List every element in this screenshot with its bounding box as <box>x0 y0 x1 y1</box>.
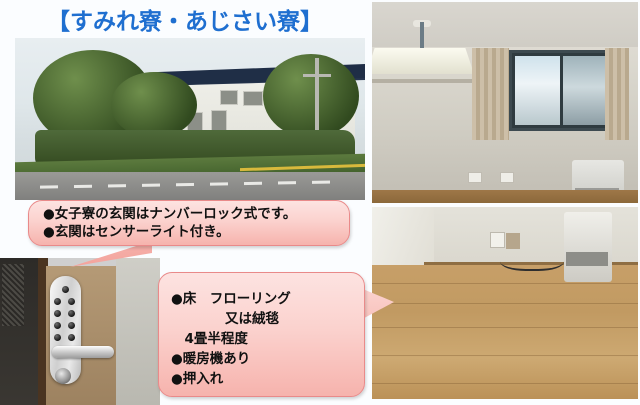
wall-outlet <box>500 172 514 183</box>
photo-room-with-window <box>372 2 638 203</box>
room-callout-line-2: 又は絨毯 <box>171 309 279 329</box>
entrance-callout: ●女子寮の玄関はナンバーロック式です。 ●玄関はセンサーライト付き。 <box>28 200 350 246</box>
heater-vent <box>566 252 608 266</box>
power-cord <box>500 247 564 271</box>
curtain-left <box>472 48 509 140</box>
lock-button <box>68 334 75 341</box>
window <box>220 90 238 105</box>
floor-plank-line <box>372 303 638 304</box>
ceiling-light-rod <box>420 22 424 52</box>
window <box>211 110 227 132</box>
lock-button <box>54 298 61 305</box>
slide-canvas: 【すみれ寮・あじさい寮】 <box>0 0 640 405</box>
curtain-right <box>605 48 629 140</box>
heater <box>564 212 612 282</box>
door-lever-handle <box>52 346 114 358</box>
lock-button <box>62 286 69 293</box>
window-frame <box>509 50 615 131</box>
wall-rail <box>372 79 480 83</box>
entrance-callout-line-2: ●玄関はセンサーライト付き。 <box>43 223 230 241</box>
floor-plank-line <box>372 283 638 284</box>
room-callout-line-3: 4畳半程度 <box>171 329 248 349</box>
room-callout-line-1: ●床 フローリング <box>171 289 291 309</box>
entrance-callout-line-1: ●女子寮の玄関はナンバーロック式です。 <box>43 205 296 223</box>
wall-outlet <box>468 172 482 183</box>
floor-plank-line <box>372 355 638 356</box>
screen-mesh <box>2 264 24 326</box>
lock-button <box>68 298 75 305</box>
photo-door-number-lock <box>0 258 160 405</box>
room-callout-line-5: ●押入れ <box>171 369 223 389</box>
wall-outlet <box>490 232 505 248</box>
tree <box>111 72 197 138</box>
floor-plank-line <box>372 327 638 328</box>
photo-exterior-building <box>15 38 365 200</box>
window-pane-left <box>515 56 560 125</box>
window-pane-right <box>563 56 609 125</box>
lock-button <box>54 334 61 341</box>
wood-floor <box>372 265 638 399</box>
lock-button <box>68 310 75 317</box>
room-callout-line-4: ●暖房機あり <box>171 349 250 369</box>
exterior-wall <box>116 258 160 405</box>
page-title: 【すみれ寮・あじさい寮】 <box>0 2 370 36</box>
floor-edge <box>372 190 638 203</box>
photo-room-flooring <box>372 207 638 399</box>
lock-button <box>54 322 61 329</box>
ceiling-light <box>372 48 474 74</box>
floor-plank-line <box>372 383 638 384</box>
keyhole <box>55 368 71 384</box>
room-callout: ●床 フローリング 又は絨毯 4畳半程度 ●暖房機あり ●押入れ <box>158 272 365 397</box>
lock-button <box>54 310 61 317</box>
lock-button <box>68 322 75 329</box>
utility-pole-arm <box>303 74 331 77</box>
tree <box>263 54 359 138</box>
ceiling <box>372 2 638 50</box>
window <box>243 91 263 106</box>
